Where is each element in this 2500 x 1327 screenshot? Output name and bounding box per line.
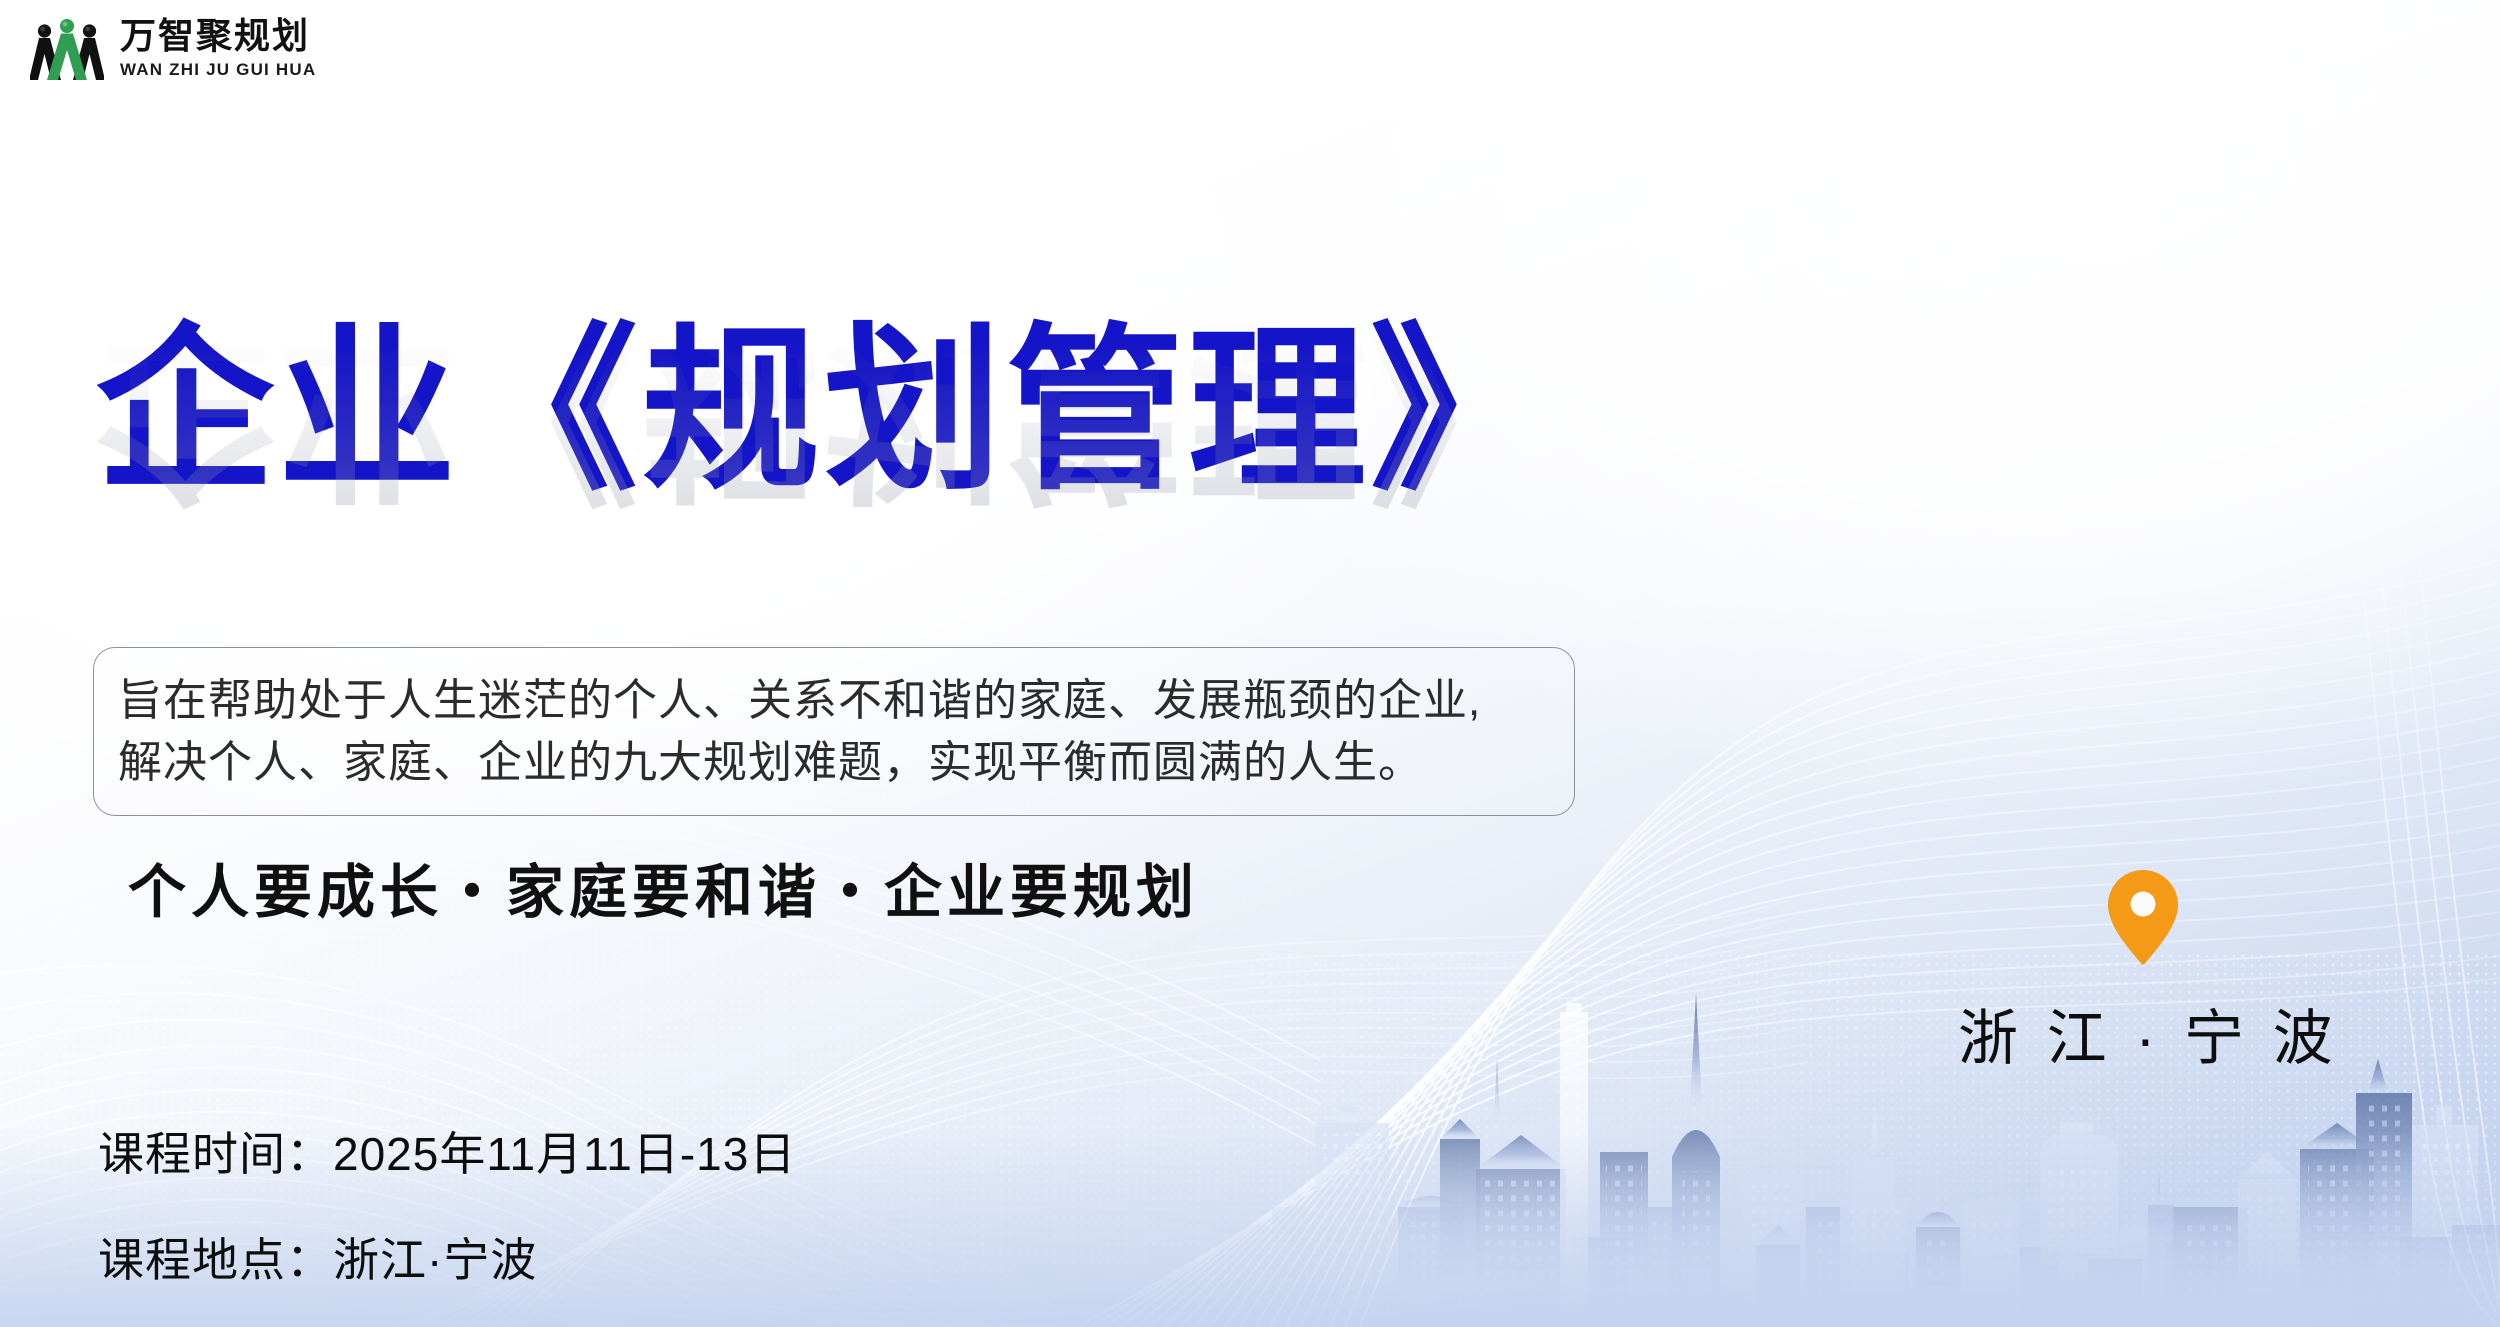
course-location-line: 课程地点：浙江·宁波	[98, 1224, 796, 1290]
tagline: 个人要成长・家庭要和谐・企业要规划	[128, 845, 1199, 929]
description-box: 旨在帮助处于人生迷茫的个人、关系不和谐的家庭、发展瓶颈的企业, 解决个人、家庭、…	[93, 647, 1575, 816]
location-marker-group: 浙 江 · 宁 波	[1958, 868, 2328, 1077]
brand-logo-text: 万智聚规划 WAN ZHI JU GUI HUA	[120, 18, 316, 78]
description-line-2: 解决个人、家庭、企业的九大规划难题，实现平衡而圆满的人生。	[118, 732, 1548, 794]
brand-name-cn: 万智聚规划	[120, 18, 316, 54]
location-label: 浙 江 · 宁 波	[1958, 990, 2328, 1077]
three-people-m-logo-icon	[30, 14, 104, 82]
course-time-line: 课程时间：2025年11月11日-13日	[98, 1118, 796, 1184]
brand-logo[interactable]: 万智聚规划 WAN ZHI JU GUI HUA	[30, 14, 316, 82]
course-info: 课程时间：2025年11月11日-13日 课程地点：浙江·宁波	[98, 1118, 796, 1290]
brand-name-en: WAN ZHI JU GUI HUA	[120, 61, 316, 78]
map-pin-icon	[2104, 868, 2182, 966]
page-title: 企业《规划管理》	[96, 318, 1596, 505]
poster-canvas: 万智聚规划 WAN ZHI JU GUI HUA 企业《规划管理》 企业《规划管…	[0, 0, 2500, 1327]
description-line-1: 旨在帮助处于人生迷茫的个人、关系不和谐的家庭、发展瓶颈的企业,	[118, 670, 1548, 732]
headline-group: 企业《规划管理》 企业《规划管理》	[96, 318, 1596, 696]
